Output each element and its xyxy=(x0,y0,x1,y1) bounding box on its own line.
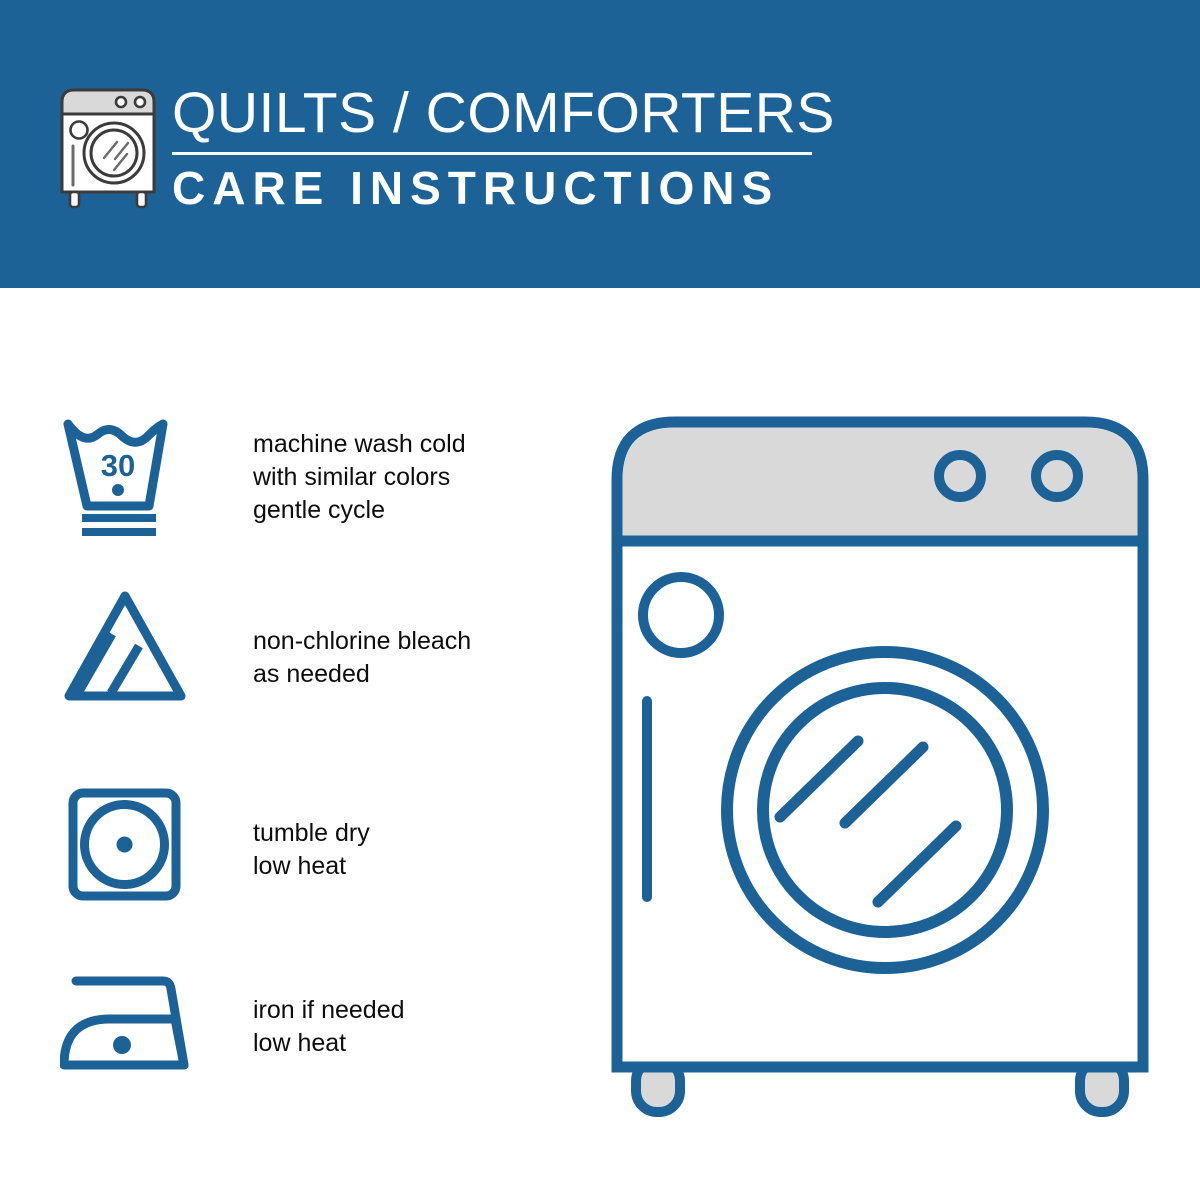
care-text-line: non-chlorine bleach xyxy=(253,625,553,658)
care-text-line: tumble dry xyxy=(253,817,553,850)
care-text-line: iron if needed xyxy=(253,994,553,1027)
care-row: 30 machine wash cold with similar colors… xyxy=(0,414,560,564)
care-text-line: gentle cycle xyxy=(253,494,553,527)
care-row: iron if needed low heat xyxy=(0,960,560,1110)
front-load-washing-machine-illustration xyxy=(600,405,1160,1125)
care-row-text: tumble dry low heat xyxy=(253,817,553,883)
page-header: QUILTS / COMFORTERS CARE INSTRUCTIONS xyxy=(0,0,1200,288)
care-text-line: with similar colors xyxy=(253,461,553,494)
washing-machine-icon xyxy=(52,80,164,212)
care-row: non-chlorine bleach as needed xyxy=(0,588,560,738)
washer-control-panel xyxy=(623,428,1138,537)
care-row-text: iron if needed low heat xyxy=(253,994,553,1060)
care-text-line: low heat xyxy=(253,1027,553,1060)
wash-temperature-value: 30 xyxy=(101,448,135,483)
care-text-line: machine wash cold xyxy=(253,428,553,461)
care-instructions-page: QUILTS / COMFORTERS CARE INSTRUCTIONS 30 xyxy=(0,0,1200,1200)
title-divider xyxy=(172,152,812,155)
header-title-block: QUILTS / COMFORTERS CARE INSTRUCTIONS xyxy=(172,82,832,215)
care-text-line: low heat xyxy=(253,850,553,883)
care-row-text: non-chlorine bleach as needed xyxy=(253,625,553,691)
machine-wash-30-gentle-icon: 30 xyxy=(60,414,192,544)
tumble-dry-low-icon xyxy=(60,783,192,913)
care-row-text: machine wash cold with similar colors ge… xyxy=(253,428,553,527)
care-instruction-list: 30 machine wash cold with similar colors… xyxy=(0,288,560,1200)
page-subtitle: CARE INSTRUCTIONS xyxy=(172,161,832,215)
care-row: tumble dry low heat xyxy=(0,783,560,933)
care-text-line: as needed xyxy=(253,658,553,691)
page-title: QUILTS / COMFORTERS xyxy=(172,82,832,144)
non-chlorine-bleach-icon xyxy=(60,588,192,718)
iron-low-heat-icon xyxy=(60,960,192,1090)
